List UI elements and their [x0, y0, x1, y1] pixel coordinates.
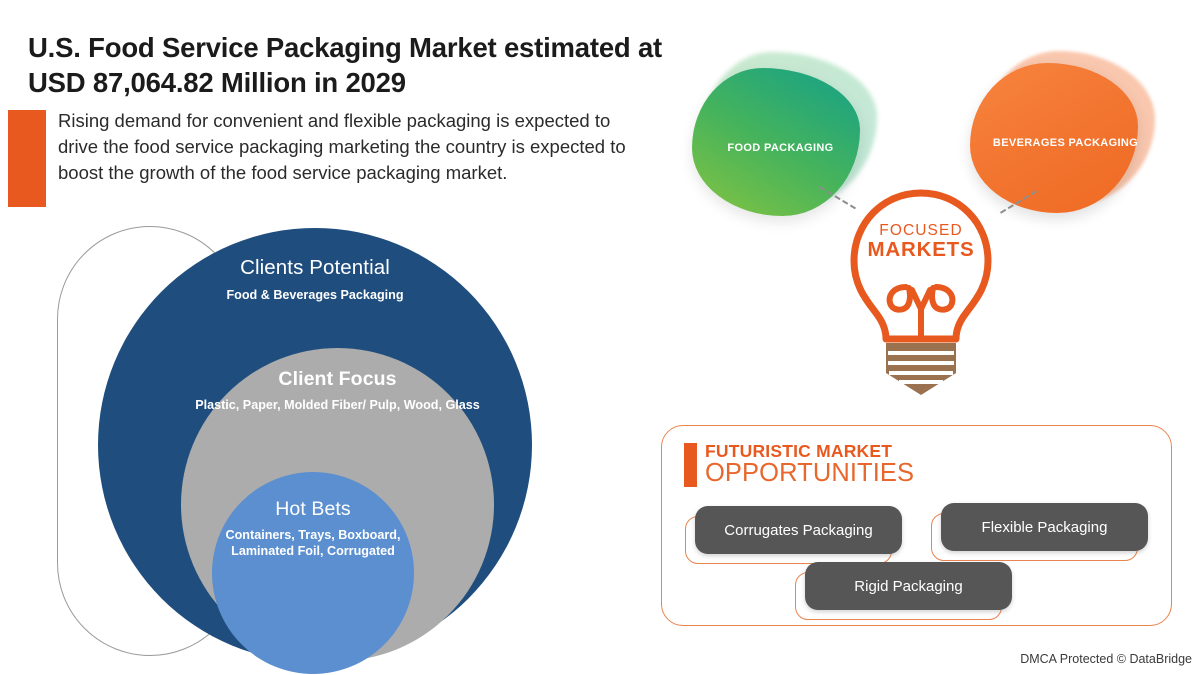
- bulb-filament-right: [932, 287, 952, 310]
- circle-title: Client Focus: [181, 368, 494, 391]
- blob-label: BEVERAGES PACKAGING: [973, 137, 1158, 149]
- circle-title: Clients Potential: [98, 256, 532, 281]
- panel-heading-bottom: OPPORTUNITIES: [705, 459, 914, 488]
- infographic-canvas: U.S. Food Service Packaging Market estim…: [0, 0, 1200, 675]
- chip-corrugates-packaging[interactable]: Corrugates Packaging: [685, 506, 892, 554]
- footer-credit: DMCA Protected © DataBridge: [1020, 652, 1192, 666]
- page-title: U.S. Food Service Packaging Market estim…: [28, 30, 668, 100]
- summary-paragraph: Rising demand for convenient and flexibl…: [58, 108, 638, 186]
- blob-label: FOOD PACKAGING: [688, 142, 873, 154]
- lightbulb-icon: [836, 187, 1006, 402]
- orange-accent-bar: [8, 110, 46, 207]
- circle-label-group: Client Focus Plastic, Paper, Molded Fibe…: [181, 368, 494, 414]
- chip-label[interactable]: Rigid Packaging: [805, 562, 1012, 610]
- panel-accent-bar: [684, 443, 697, 487]
- circle-label-group: Hot Bets Containers, Trays, Boxboard, La…: [212, 498, 414, 560]
- circle-hot-bets: Hot Bets Containers, Trays, Boxboard, La…: [212, 472, 414, 674]
- circle-subtitle: Containers, Trays, Boxboard, Laminated F…: [212, 528, 414, 560]
- circle-subtitle: Food & Beverages Packaging: [98, 288, 532, 304]
- chip-label[interactable]: Corrugates Packaging: [695, 506, 902, 554]
- circle-title: Hot Bets: [212, 498, 414, 521]
- chip-flexible-packaging[interactable]: Flexible Packaging: [931, 503, 1138, 551]
- chip-label[interactable]: Flexible Packaging: [941, 503, 1148, 551]
- lightbulb-graphic: FOCUSED MARKETS: [836, 187, 1006, 402]
- bulb-filament-left: [890, 287, 910, 310]
- circle-subtitle: Plastic, Paper, Molded Fiber/ Pulp, Wood…: [181, 398, 494, 414]
- bulb-base: [886, 343, 956, 395]
- circle-label-group: Clients Potential Food & Beverages Packa…: [98, 256, 532, 304]
- chip-rigid-packaging[interactable]: Rigid Packaging: [795, 562, 1002, 610]
